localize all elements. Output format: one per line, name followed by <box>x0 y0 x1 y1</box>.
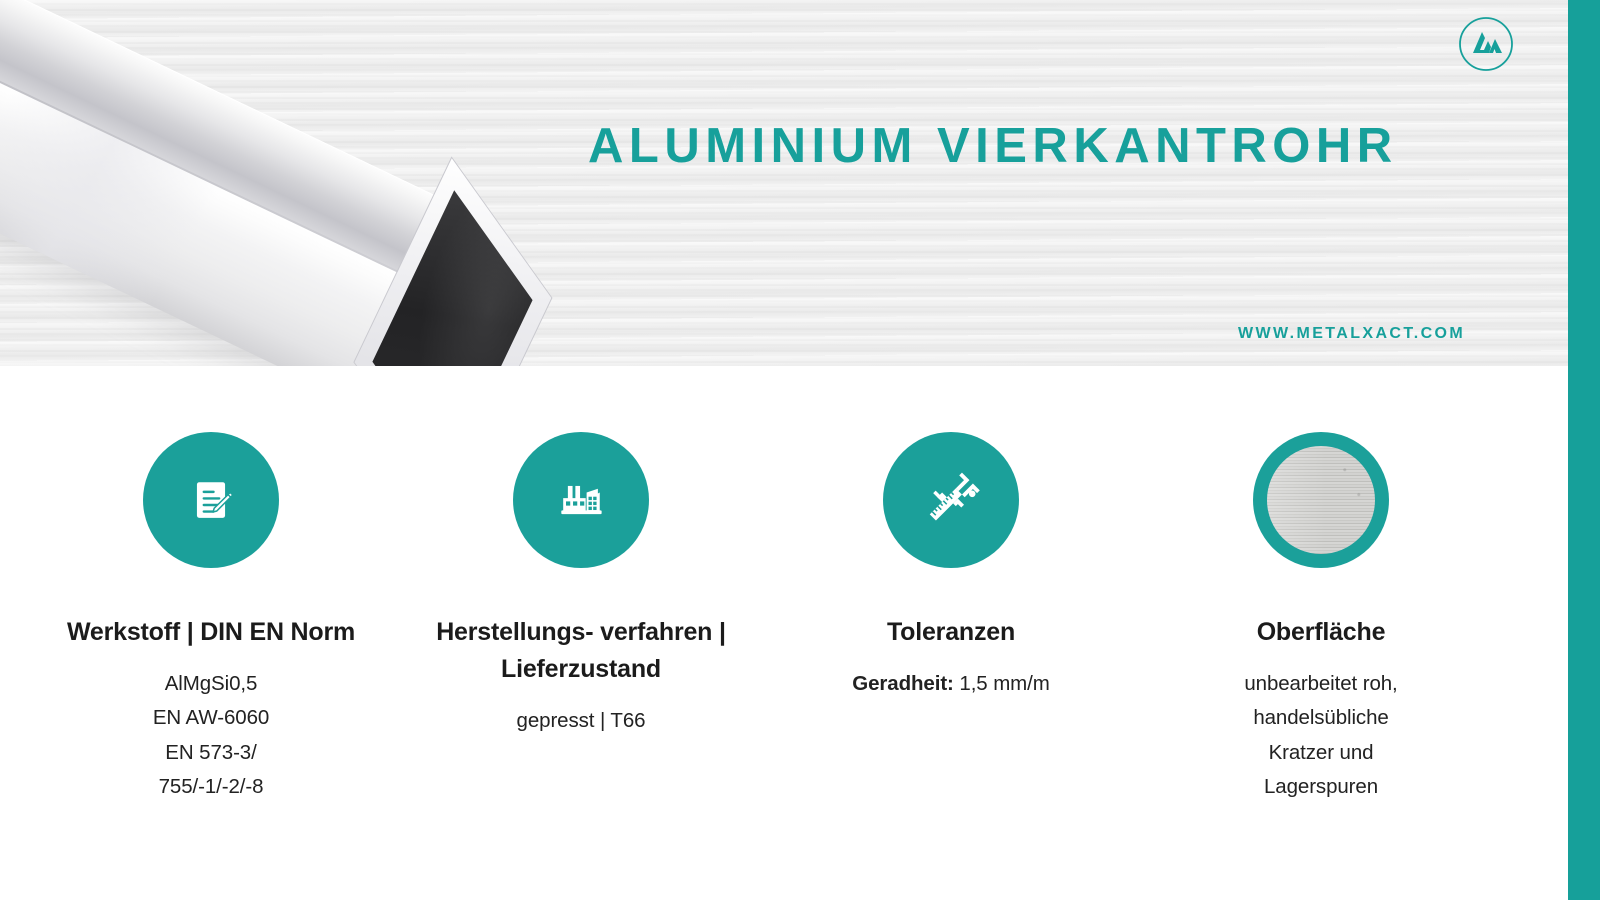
feature-columns: Werkstoff | DIN EN Norm AlMgSi0,5 EN AW-… <box>0 432 1568 805</box>
feature-title: Werkstoff | DIN EN Norm <box>67 614 355 651</box>
page-title: ALUMINIUM VIERKANTROHR <box>588 118 1398 174</box>
right-accent-bar <box>1568 0 1600 900</box>
factory-icon <box>513 432 649 568</box>
feature-werkstoff: Werkstoff | DIN EN Norm AlMgSi0,5 EN AW-… <box>26 432 396 805</box>
feature-oberflaeche: Oberfläche unbearbeitet roh, handelsübli… <box>1136 432 1506 805</box>
aluminium-square-tube-graphic <box>0 0 510 366</box>
feature-body-value: 1,5 mm/m <box>959 672 1049 695</box>
surface-texture-sample <box>1267 446 1375 554</box>
hero-section: ALUMINIUM VIERKANTROHR WWW.METALXACT.COM <box>0 0 1568 366</box>
feature-title: Oberfläche <box>1257 614 1386 651</box>
caliper-icon <box>883 432 1019 568</box>
feature-herstellungsverfahren: Herstellungs- verfahren | Lieferzustand … <box>396 432 766 805</box>
product-info-card: ALUMINIUM VIERKANTROHR WWW.METALXACT.COM <box>0 0 1600 900</box>
feature-body: gepresst | T66 <box>517 704 646 738</box>
feature-toleranzen: Toleranzen Geradheit: 1,5 mm/m <box>766 432 1136 805</box>
feature-body-label: Geradheit: <box>852 672 954 695</box>
feature-body: AlMgSi0,5 EN AW-6060 EN 573-3/ 755/-1/-2… <box>153 667 269 805</box>
surface-swatch-icon <box>1253 432 1389 568</box>
feature-body: Geradheit: 1,5 mm/m <box>852 667 1049 701</box>
feature-title: Toleranzen <box>887 614 1015 651</box>
document-pencil-icon <box>143 432 279 568</box>
product-photo <box>0 0 560 330</box>
website-url[interactable]: WWW.METALXACT.COM <box>1238 325 1465 343</box>
feature-title: Herstellungs- verfahren | Lieferzustand <box>414 614 748 688</box>
metalxact-logo-icon[interactable] <box>1458 16 1514 72</box>
feature-body: unbearbeitet roh, handelsübliche Kratzer… <box>1244 667 1397 805</box>
